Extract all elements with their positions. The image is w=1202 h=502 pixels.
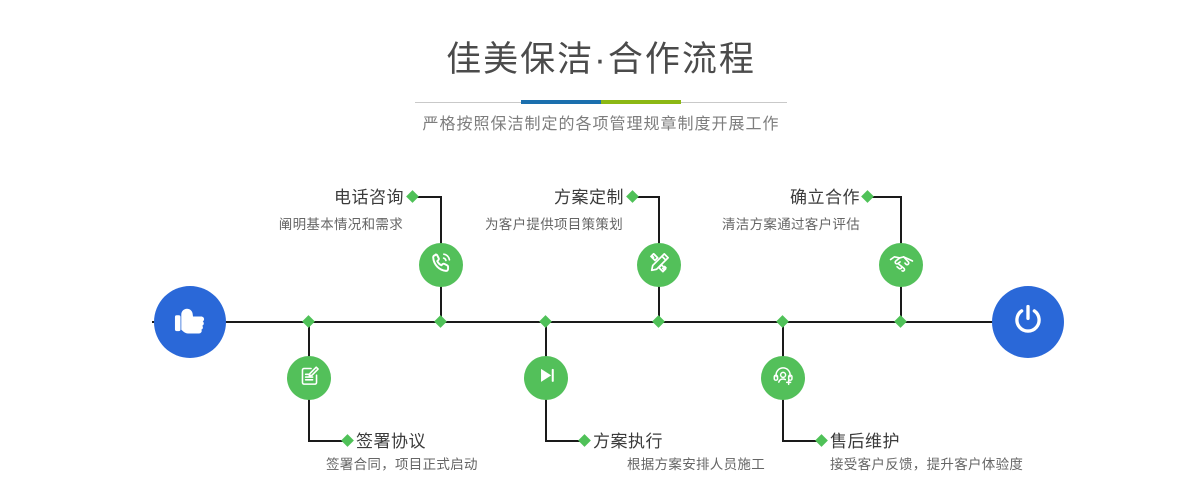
- step-desc-2: 签署合同，项目正式启动: [326, 458, 478, 472]
- pencil-ruler-icon: [646, 250, 672, 281]
- connector-diamond-step-1: [406, 190, 419, 203]
- pointing-hand-icon: [171, 301, 209, 344]
- step-title-5: 售后维护: [830, 433, 900, 450]
- play-skip-icon: [534, 363, 559, 393]
- phone-call-icon: [428, 250, 454, 281]
- axis-diamond-step-6: [894, 315, 907, 328]
- connector-diamond-step-4: [578, 434, 591, 447]
- step-title-1: 电话咨询: [240, 189, 404, 206]
- step-icon-6[interactable]: [879, 243, 923, 287]
- step-desc-5: 接受客户反馈，提升客户体验度: [830, 458, 1023, 472]
- document-edit-icon: [297, 363, 322, 393]
- handshake-icon: [888, 249, 915, 281]
- headset-support-icon: [771, 363, 796, 393]
- process-timeline: 电话咨询 阐明基本情况和需求 方案定制: [0, 0, 1202, 502]
- step-desc-1: 阐明基本情况和需求: [253, 218, 403, 232]
- flow-diagram-page: 佳美保洁·合作流程 严格按照保洁制定的各项管理规章制度开展工作: [0, 0, 1202, 502]
- step-title-3: 方案定制: [460, 189, 624, 206]
- timeline-axis: [152, 321, 1050, 323]
- step-icon-3[interactable]: [637, 243, 681, 287]
- connector-diamond-step-5: [815, 434, 828, 447]
- connector-diamond-step-3: [626, 190, 639, 203]
- timeline-end-node[interactable]: [992, 286, 1064, 358]
- step-title-2: 签署协议: [356, 433, 426, 450]
- step-icon-2[interactable]: [287, 356, 331, 400]
- power-icon: [1009, 301, 1047, 344]
- step-icon-5[interactable]: [761, 356, 805, 400]
- step-title-4: 方案执行: [593, 433, 663, 450]
- axis-diamond-step-3: [652, 315, 665, 328]
- step-icon-1[interactable]: [419, 243, 463, 287]
- step-icon-4[interactable]: [524, 356, 568, 400]
- axis-diamond-step-5: [776, 315, 789, 328]
- step-desc-6: 清洁方案通过客户评估: [700, 218, 860, 232]
- connector-hline-step-6: [870, 196, 902, 198]
- connector-diamond-step-2: [341, 434, 354, 447]
- step-desc-4: 根据方案安排人员施工: [627, 458, 765, 472]
- axis-diamond-step-4: [539, 315, 552, 328]
- connector-diamond-step-6: [861, 190, 874, 203]
- axis-diamond-step-1: [434, 315, 447, 328]
- step-desc-3: 为客户提供项目策策划: [458, 218, 623, 232]
- step-title-6: 确立合作: [700, 189, 860, 206]
- axis-diamond-step-2: [302, 315, 315, 328]
- timeline-start-node[interactable]: [154, 286, 226, 358]
